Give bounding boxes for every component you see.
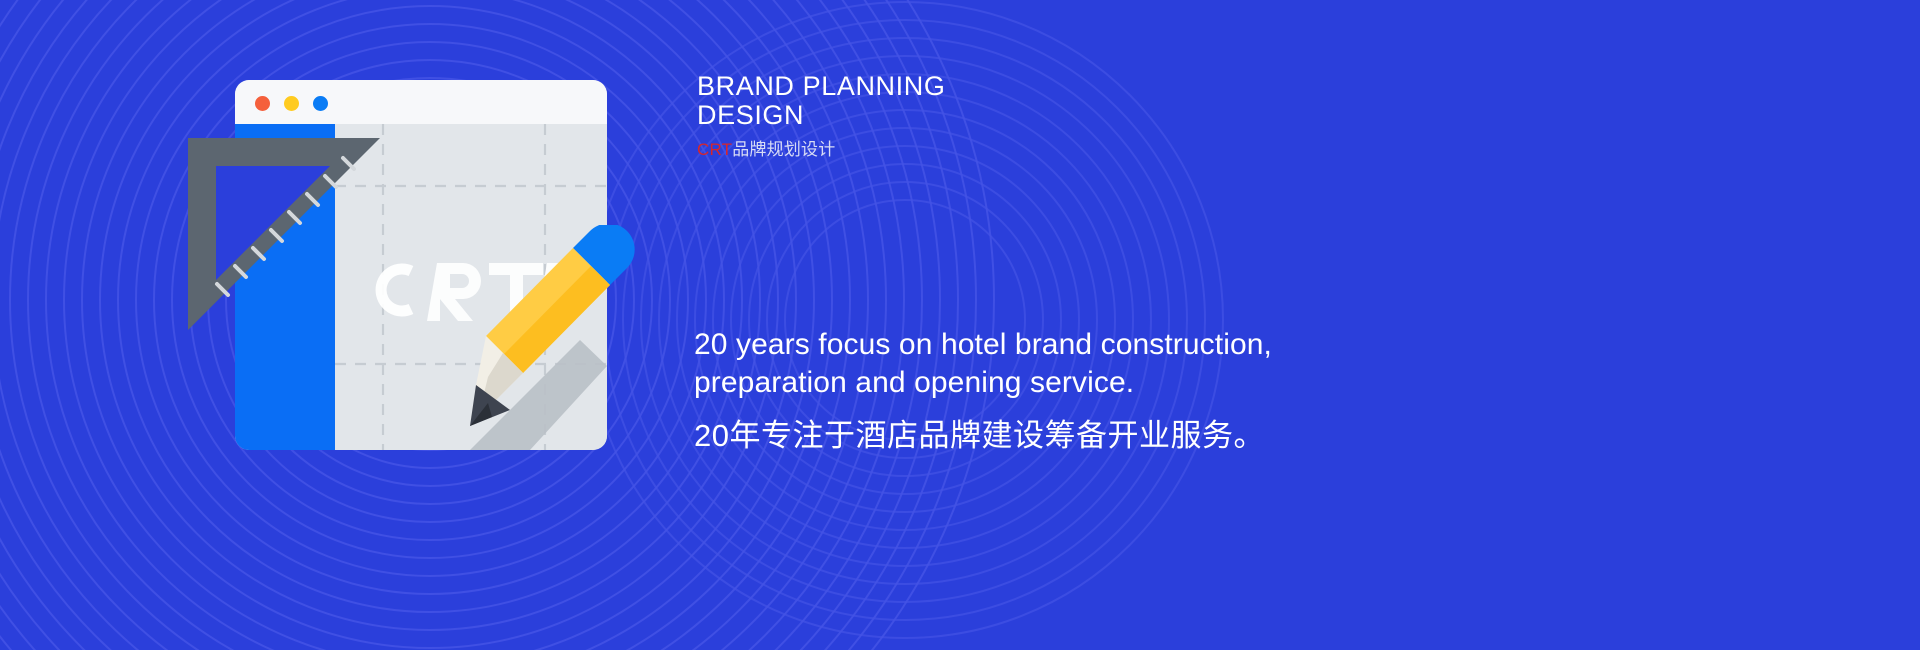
heading-block: BRAND PLANNING DESIGN CRT品牌规划设计 <box>697 72 1317 161</box>
subtitle-text: 品牌规划设计 <box>732 140 835 159</box>
tagline-chinese: 20年专注于酒店品牌建设筹备开业服务。 <box>694 416 1454 456</box>
tagline-english-line-2: preparation and opening service. <box>694 364 1454 402</box>
brand-design-illustration <box>180 55 680 475</box>
tagline-english-line-1: 20 years focus on hotel brand constructi… <box>694 326 1454 364</box>
subtitle-brand: CRT <box>697 140 732 159</box>
close-dot-icon <box>255 96 270 111</box>
subtitle: CRT品牌规划设计 <box>697 139 1317 161</box>
tagline-block: 20 years focus on hotel brand constructi… <box>694 326 1454 456</box>
pencil-icon <box>470 225 680 455</box>
minimize-dot-icon <box>284 96 299 111</box>
triangle-ruler-icon <box>180 130 405 355</box>
maximize-dot-icon <box>313 96 328 111</box>
page-title: BRAND PLANNING DESIGN <box>697 72 1317 130</box>
brand-banner: BRAND PLANNING DESIGN CRT品牌规划设计 20 years… <box>0 0 1920 650</box>
browser-title-bar <box>235 80 607 124</box>
